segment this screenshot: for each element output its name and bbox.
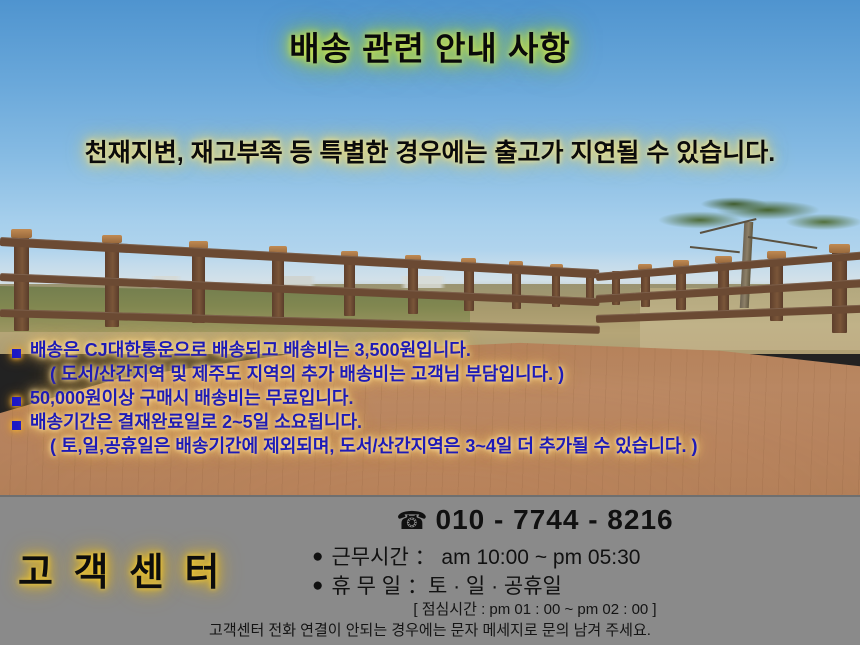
rail-post-cap: [829, 244, 850, 253]
list-item-label: 50,000원이상 구매시 배송비는 무료입니다.: [30, 388, 353, 410]
customer-center-label: 고 객 센 터: [18, 541, 225, 596]
lunch-time-text: [ 점심시간 : pm 01 : 00 ~ pm 02 : 00 ]: [300, 598, 770, 619]
customer-center-footer: 고 객 센 터 ☎010 - 7744 - 8216 ● 근무시간 ： am 1…: [0, 495, 860, 645]
list-item: ( 도서/산간지역 및 제주도 지역의 추가 배송비는 고객님 부담입니다. ): [10, 364, 860, 386]
rail-bar-top: [0, 237, 599, 278]
rail-post-cap: [11, 229, 32, 238]
sms-note-text: 고객센터 전화 연결이 안되는 경우에는 문자 메세지로 문의 남겨 주세요.: [0, 619, 860, 640]
banner-title: 배송 관련 안내 사항: [0, 22, 860, 70]
list-item: 배송기간은 결재완료일로 2~5일 소요됩니다.: [10, 412, 860, 434]
list-item: ( 토,일,공휴일은 배송기간에 제외되며, 도서/산간지역은 3~4일 더 추…: [10, 436, 860, 458]
rail-post: [832, 251, 847, 333]
bullet-square-icon: [12, 397, 21, 406]
bullet-square-icon: [12, 349, 21, 358]
business-hours-text: 근무시간 ： am 10:00 ~ pm 05:30: [331, 541, 640, 571]
telephone-icon: ☎: [396, 507, 428, 535]
banner-subtitle: 천재지변, 재고부족 등 특별한 경우에는 출고가 지연될 수 있습니다.: [0, 133, 860, 169]
list-item-label: ( 토,일,공휴일은 배송기간에 제외되며, 도서/산간지역은 3~4일 더 추…: [50, 436, 697, 458]
bullet-square-icon: [12, 421, 21, 430]
off-day-row: ● 휴 무 일 ：토 · 일 · 공휴일: [312, 570, 562, 600]
rail-bar-middle: [0, 273, 600, 306]
shipping-info-banner: 배송 관련 안내 사항 천재지변, 재고부족 등 특별한 경우에는 출고가 지연…: [0, 0, 860, 645]
shipping-notice-list: 배송은 CJ대한통운으로 배송되고 배송비는 3,500원입니다. ( 도서/산…: [10, 340, 860, 460]
list-item-label: ( 도서/산간지역 및 제주도 지역의 추가 배송비는 고객님 부담입니다. ): [50, 364, 564, 386]
list-item-label: 배송은 CJ대한통운으로 배송되고 배송비는 3,500원입니다.: [30, 340, 471, 362]
list-item: 50,000원이상 구매시 배송비는 무료입니다.: [10, 388, 860, 410]
phone-number-row[interactable]: ☎010 - 7744 - 8216: [300, 504, 770, 536]
rail-bar-bottom: [0, 309, 600, 334]
business-hours-row: ● 근무시간 ： am 10:00 ~ pm 05:30: [312, 541, 640, 571]
filled-circle-icon: ●: [312, 576, 323, 595]
off-day-text: 휴 무 일 ：토 · 일 · 공휴일: [331, 570, 561, 600]
list-item-label: 배송기간은 결재완료일로 2~5일 소요됩니다.: [30, 412, 362, 434]
filled-circle-icon: ●: [312, 547, 323, 566]
list-item: 배송은 CJ대한통운으로 배송되고 배송비는 3,500원입니다.: [10, 340, 860, 362]
phone-number[interactable]: 010 - 7744 - 8216: [436, 504, 674, 535]
